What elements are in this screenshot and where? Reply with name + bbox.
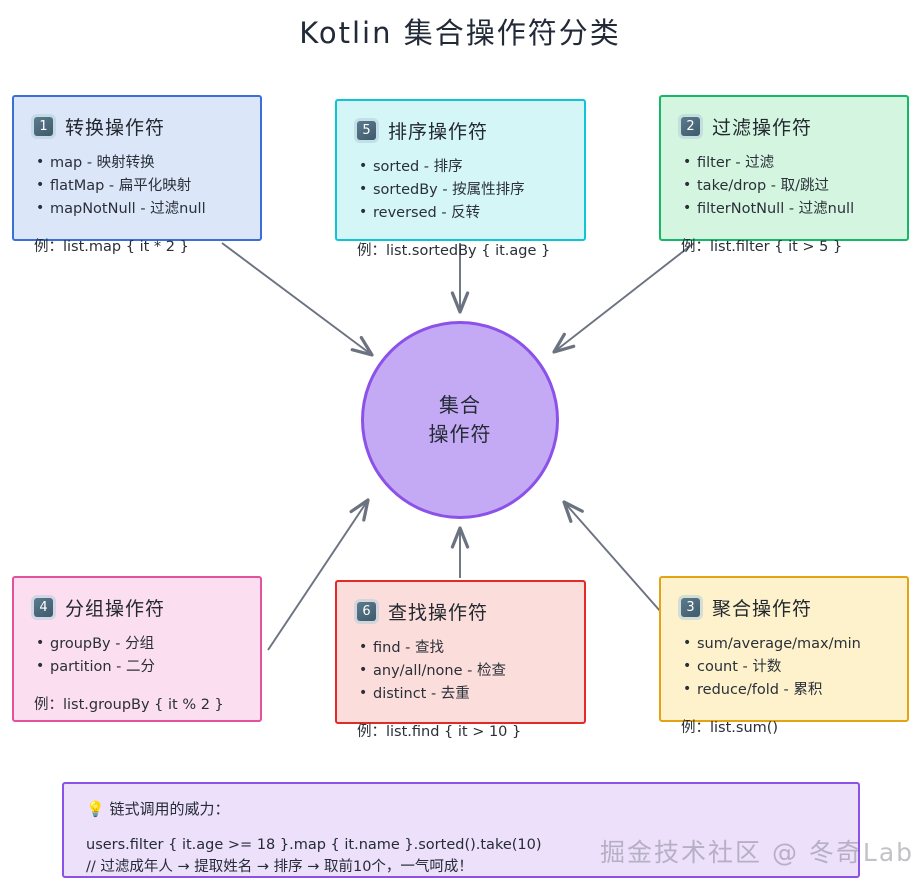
list-item: reduce/fold - 累积 <box>681 679 887 702</box>
edge-transform-to-hub <box>222 243 372 355</box>
diagram-canvas: Kotlin 集合操作符分类 1 转换操作符 map - 映射转换 flatMa… <box>0 0 920 889</box>
hub-node[interactable]: 集合 操作符 <box>361 321 559 519</box>
page-title: Kotlin 集合操作符分类 <box>0 10 920 52</box>
list-item: take/drop - 取/跳过 <box>681 175 887 198</box>
list-item: sum/average/max/min <box>681 633 887 656</box>
node-find[interactable]: 6 查找操作符 find - 查找 any/all/none - 检查 dist… <box>335 580 586 724</box>
list-item: map - 映射转换 <box>34 152 240 175</box>
node-filter-items: filter - 过滤 take/drop - 取/跳过 filterNotNu… <box>681 152 887 221</box>
node-aggregate-header: 3 聚合操作符 <box>681 594 887 621</box>
node-group-title: 分组操作符 <box>65 594 165 621</box>
list-item: count - 计数 <box>681 656 887 679</box>
node-transform-items: map - 映射转换 flatMap - 扁平化映射 mapNotNull - … <box>34 152 240 221</box>
node-number-badge: 4 <box>34 598 53 617</box>
node-number-badge: 1 <box>34 117 53 136</box>
node-transform-title: 转换操作符 <box>65 113 165 140</box>
node-sort-header: 5 排序操作符 <box>357 117 564 144</box>
node-sort-example: 例：list.sortedBy { it.age } <box>357 239 564 260</box>
list-item: distinct - 去重 <box>357 683 564 706</box>
node-aggregate-items: sum/average/max/min count - 计数 reduce/fo… <box>681 633 887 702</box>
list-item: groupBy - 分组 <box>34 633 240 656</box>
footer-heading: 💡 链式调用的威力： <box>86 798 836 819</box>
node-number-badge: 6 <box>357 602 376 621</box>
node-number-badge: 3 <box>681 598 700 617</box>
list-item: find - 查找 <box>357 637 564 660</box>
node-number-badge: 5 <box>357 121 376 140</box>
node-aggregate-example: 例：list.sum() <box>681 716 887 737</box>
list-item: reversed - 反转 <box>357 202 564 225</box>
list-item: sorted - 排序 <box>357 156 564 179</box>
list-item: partition - 二分 <box>34 656 240 679</box>
node-find-header: 6 查找操作符 <box>357 598 564 625</box>
list-item: filterNotNull - 过滤null <box>681 198 887 221</box>
node-group-items: groupBy - 分组 partition - 二分 <box>34 633 240 679</box>
node-group[interactable]: 4 分组操作符 groupBy - 分组 partition - 二分 例：li… <box>12 576 262 722</box>
node-transform-header: 1 转换操作符 <box>34 113 240 140</box>
node-filter-example: 例：list.filter { it > 5 } <box>681 235 887 256</box>
node-transform[interactable]: 1 转换操作符 map - 映射转换 flatMap - 扁平化映射 mapNo… <box>12 95 262 241</box>
node-sort-title: 排序操作符 <box>388 117 488 144</box>
node-filter[interactable]: 2 过滤操作符 filter - 过滤 take/drop - 取/跳过 fil… <box>659 95 909 241</box>
list-item: mapNotNull - 过滤null <box>34 198 240 221</box>
node-aggregate[interactable]: 3 聚合操作符 sum/average/max/min count - 计数 r… <box>659 576 909 722</box>
edge-filter-to-hub <box>554 243 694 352</box>
node-aggregate-title: 聚合操作符 <box>712 594 812 621</box>
list-item: sortedBy - 按属性排序 <box>357 179 564 202</box>
node-number-badge: 2 <box>681 117 700 136</box>
node-find-title: 查找操作符 <box>388 598 488 625</box>
node-find-example: 例：list.find { it > 10 } <box>357 720 564 741</box>
node-filter-header: 2 过滤操作符 <box>681 113 887 140</box>
list-item: flatMap - 扁平化映射 <box>34 175 240 198</box>
node-sort-items: sorted - 排序 sortedBy - 按属性排序 reversed - … <box>357 156 564 225</box>
node-group-header: 4 分组操作符 <box>34 594 240 621</box>
node-sort[interactable]: 5 排序操作符 sorted - 排序 sortedBy - 按属性排序 rev… <box>335 99 586 241</box>
hub-label: 集合 操作符 <box>429 391 492 449</box>
node-filter-title: 过滤操作符 <box>712 113 812 140</box>
node-find-items: find - 查找 any/all/none - 检查 distinct - 去… <box>357 637 564 706</box>
watermark: 掘金技术社区 @ 冬奇Lab <box>600 833 914 869</box>
node-group-example: 例：list.groupBy { it % 2 } <box>34 693 240 714</box>
list-item: filter - 过滤 <box>681 152 887 175</box>
node-transform-example: 例：list.map { it * 2 } <box>34 235 240 256</box>
list-item: any/all/none - 检查 <box>357 660 564 683</box>
